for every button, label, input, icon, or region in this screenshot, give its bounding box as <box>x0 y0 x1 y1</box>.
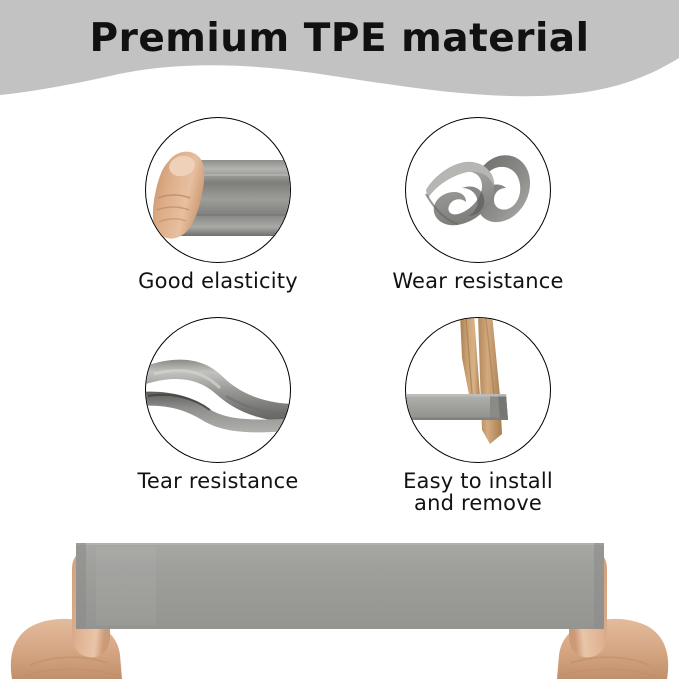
feature-caption-tear-resistance: Tear resistance <box>98 470 338 492</box>
page-title: Premium TPE material <box>0 16 679 61</box>
caption-line: Wear resistance <box>358 270 598 292</box>
hero-band-section <box>0 505 679 679</box>
feature-circle-tear-resistance <box>145 317 291 463</box>
feature-good-elasticity: Good elasticity <box>98 117 338 292</box>
feature-circle-easy-install <box>405 317 551 463</box>
hand-stretching-band-icon <box>146 118 291 263</box>
feature-easy-install: Easy to install and remove <box>358 317 598 514</box>
two-hands-stretching-band <box>0 505 679 679</box>
feature-tear-resistance: Tear resistance <box>98 317 338 492</box>
feature-caption-good-elasticity: Good elasticity <box>98 270 338 292</box>
feature-circle-good-elasticity <box>145 117 291 263</box>
chair-legs-with-band-icon <box>406 318 551 463</box>
feature-caption-wear-resistance: Wear resistance <box>358 270 598 292</box>
caption-line: Good elasticity <box>98 270 338 292</box>
feature-wear-resistance: Wear resistance <box>358 117 598 292</box>
twisted-band-icon <box>146 318 291 463</box>
feature-circle-wear-resistance <box>405 117 551 263</box>
caption-line: Easy to install <box>358 470 598 492</box>
folded-band-loops-icon <box>406 118 551 263</box>
caption-line: Tear resistance <box>98 470 338 492</box>
